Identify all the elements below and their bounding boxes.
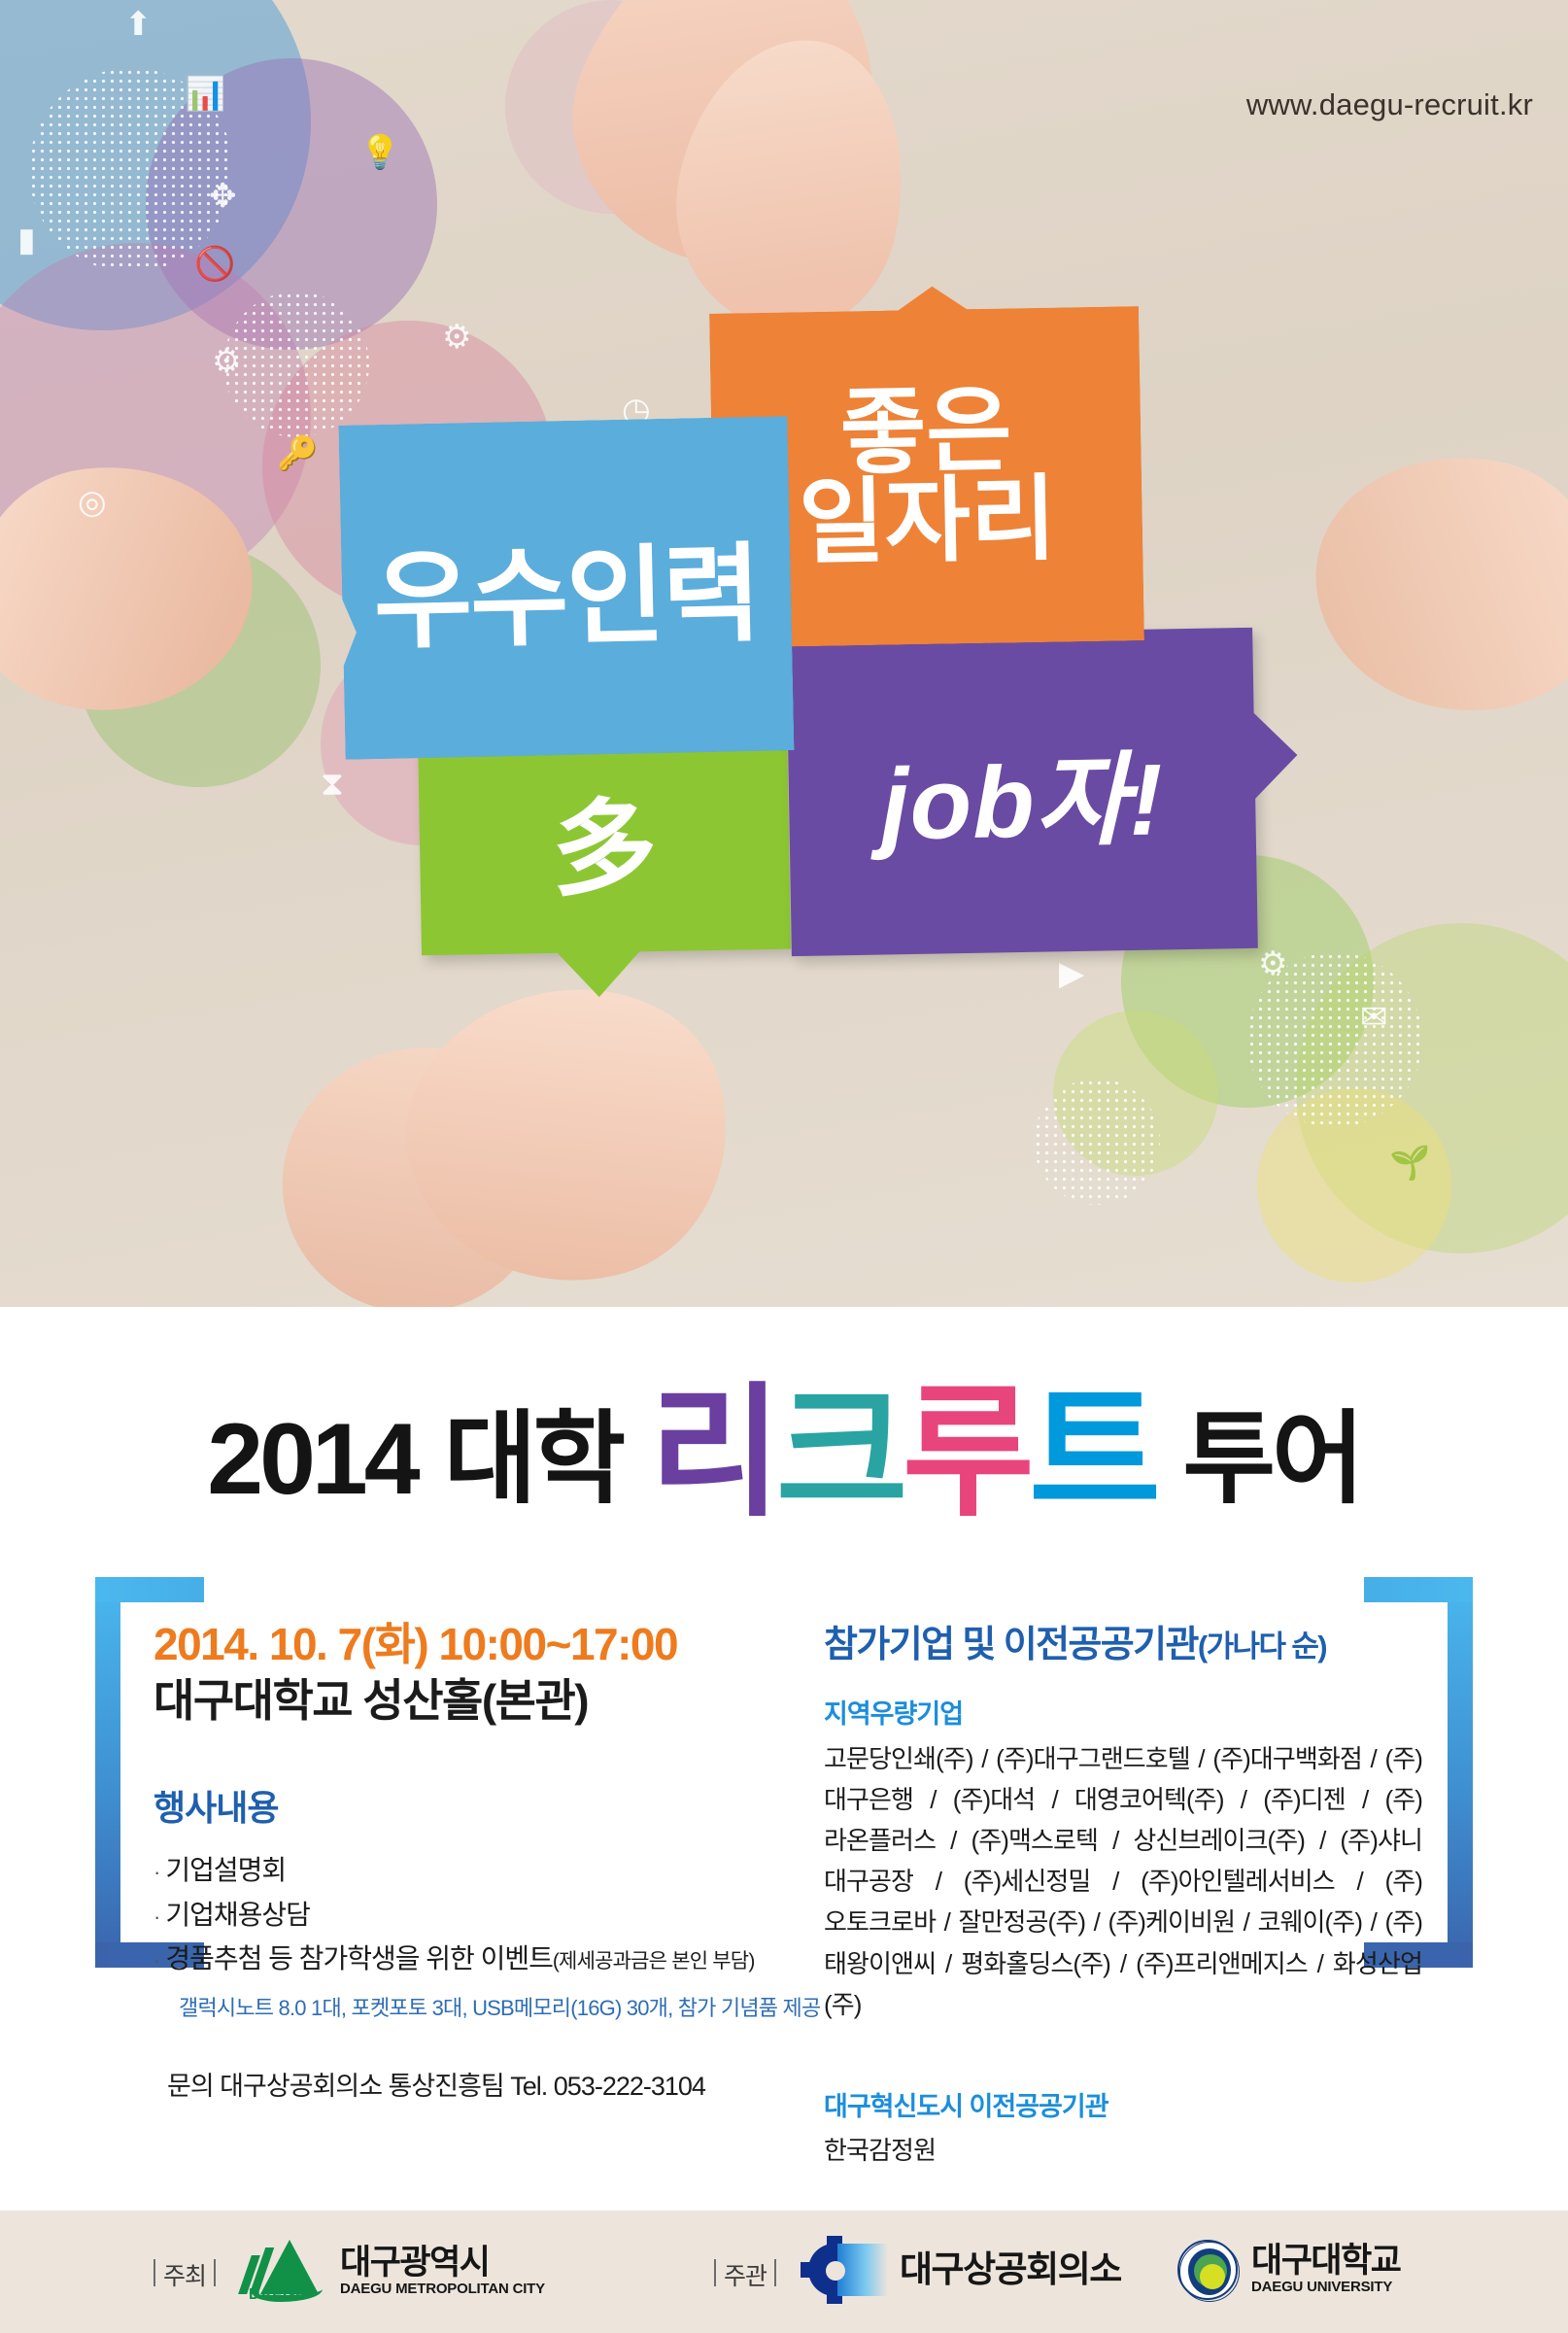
key-icon: 🔑 [277, 437, 318, 470]
hourglass-icon: ⧗ [321, 768, 344, 801]
play-arrow-icon: ▶ [1059, 957, 1084, 990]
title-char-ri: 리 [649, 1373, 775, 1533]
gear-icon: ⚙ [212, 345, 241, 378]
university-name-ko: 대구대학교 [1251, 2244, 1401, 2279]
gear-icon: ⚙ [442, 321, 471, 354]
bracket-left-top [95, 1577, 204, 1602]
leaf-icon: 🌱 [1389, 1147, 1430, 1180]
bubble-tail [878, 270, 980, 315]
prize-list: 갤럭시노트 8.0 1대, 포켓포토 3대, USB메모리(16G) 30개, … [179, 1991, 775, 2022]
list-item: ·기업설명회 [153, 1848, 775, 1892]
contact-info[interactable]: 문의 대구상공회의소 통상진흥팀 Tel. 053-222-3104 [167, 2065, 775, 2103]
title-year: 2014 [207, 1403, 416, 1516]
gear-icon: ⚙ [1258, 947, 1287, 980]
bubble-blue-text: 우수인력 [372, 506, 761, 669]
participants-heading-suffix: (가나다 순) [1198, 1630, 1326, 1664]
bubble-tail [556, 949, 642, 998]
daegu-mark-text: DAEGU [249, 2286, 307, 2304]
speech-bubble-blue: 우수인력 [338, 416, 794, 760]
arrow-up-icon: ⬆ [124, 8, 153, 41]
bubble-orange-line1: 좋은 [797, 386, 1056, 480]
university-seal-icon [1177, 2240, 1238, 2300]
daegu-university-logo: 대구대학교 DAEGU UNIVERSITY [1177, 2240, 1401, 2300]
title-tour: 투어 [1182, 1403, 1360, 1516]
title-char-teu: 트 [1029, 1373, 1155, 1533]
halftone-dots [1034, 1079, 1160, 1205]
event-details-column: 2014. 10. 7(화) 10:00~17:00 대구대학교 성산홀(본관)… [153, 1618, 775, 2103]
organizer-name-ko: 대구상공회의소 [900, 2251, 1121, 2288]
website-url[interactable]: www.daegu-recruit.kr [1246, 87, 1533, 122]
participants-column: 참가기업 및 이전공공기관(가나다 순) 지역우량기업 고문당인쇄(주) / (… [824, 1614, 1422, 2167]
dial-icon: ◎ [78, 486, 107, 519]
host-name-ko: 대구광역시 [340, 2246, 545, 2281]
list-item-label: 기업채용상담 [165, 1900, 310, 1930]
no-entry-icon: 🚫 [194, 248, 235, 281]
bubble-tail [1252, 710, 1299, 801]
hand-illustration [1296, 433, 1568, 733]
bracket-left [95, 1577, 120, 1968]
bar-chart-icon: 📊 [185, 78, 225, 111]
bullet-dot-icon: · [153, 1904, 159, 1929]
bracket-right-top [1364, 1577, 1473, 1602]
host-name-en: DAEGU METROPOLITAN CITY [340, 2281, 545, 2298]
daegu-city-logo: DAEGU 대구광역시 DAEGU METROPOLITAN CITY [243, 2240, 545, 2304]
battery-icon: ▮ [17, 223, 36, 257]
content-area: 2014 대학 리크루트 투어 2014. 10. 7(화) 10:00~17:… [0, 1307, 1568, 2211]
page-title: 2014 대학 리크루트 투어 [0, 1373, 1568, 1517]
local-companies-list: 고문당인쇄(주) / (주)대구그랜드호텔 / (주)대구백화점 / (주)대구… [824, 1738, 1422, 2025]
bullet-dot-icon: · [153, 1948, 159, 1973]
host-label: 주최 [163, 2257, 206, 2292]
bubble-purple-text: job자! [879, 716, 1165, 868]
participants-heading: 참가기업 및 이전공공기관(가나다 순) [824, 1614, 1422, 1667]
title-univ: 대학 [444, 1403, 622, 1516]
bullet-dot-icon: · [153, 1860, 159, 1884]
speech-bubble-green: 多 [418, 726, 791, 956]
seal-yellow-disc [1200, 2264, 1225, 2289]
relocated-agencies-list: 한국감정원 [824, 2131, 1422, 2167]
event-contents-heading: 행사내용 [153, 1780, 775, 1831]
title-char-ru: 루 [903, 1373, 1029, 1533]
list-item: ·경품추첨 등 참가학생을 위한 이벤트(제세공과금은 본인 부담) [153, 1937, 775, 1980]
envelope-icon: ✉ [1360, 1001, 1388, 1034]
local-companies-subheading: 지역우량기업 [824, 1693, 1422, 1731]
list-item: ·기업채용상담 [153, 1893, 775, 1937]
event-datetime: 2014. 10. 7(화) 10:00~17:00 [153, 1618, 775, 1670]
poster-root: ⬆ 📊 💡 ✥ ▮ 🚫 ⚙ ⚙ ◷ 🔑 ◎ ⧗ ▶ ⚙ ✉ 🌱 www.daeg… [0, 0, 1568, 2333]
footer-bar: 주최 DAEGU 대구광역시 DAEGU METROPOLITAN CITY 주… [0, 2211, 1568, 2333]
organizer-label: 주관 [724, 2257, 767, 2292]
move-arrows-icon: ✥ [209, 180, 237, 213]
dcci-logo: 대구상공회의소 [808, 2240, 1121, 2300]
list-item-label: 기업설명회 [165, 1855, 286, 1885]
list-item-note: (제세공과금은 본인 부담) [553, 1950, 755, 1973]
relocated-agencies-subheading: 대구혁신도시 이전공공기관 [824, 2085, 1422, 2123]
bracket-right [1448, 1577, 1473, 1968]
halftone-dots [223, 292, 369, 437]
title-char-keu: 크 [776, 1373, 903, 1533]
participants-heading-main: 참가기업 및 이전공공기관 [824, 1625, 1198, 1665]
university-name-en: DAEGU UNIVERSITY [1251, 2279, 1401, 2296]
bubble-green-text: 多 [551, 764, 659, 917]
bubble-orange-line2: 일자리 [799, 475, 1058, 569]
lightbulb-icon: 💡 [359, 136, 400, 169]
gear-hole [826, 2261, 845, 2281]
daegu-mountain-icon: DAEGU [243, 2240, 326, 2304]
hero-image: ⬆ 📊 💡 ✥ ▮ 🚫 ⚙ ⚙ ◷ 🔑 ◎ ⧗ ▶ ⚙ ✉ 🌱 www.daeg… [0, 0, 1568, 1307]
speech-bubble-purple: job자! [786, 628, 1258, 956]
event-venue: 대구대학교 성산홀(본관) [153, 1674, 775, 1728]
gear-icon [808, 2240, 886, 2300]
event-contents-list: ·기업설명회 ·기업채용상담 ·경품추첨 등 참가학생을 위한 이벤트(제세공과… [153, 1848, 775, 1980]
list-item-label: 경품추첨 등 참가학생을 위한 이벤트 [165, 1943, 553, 1973]
